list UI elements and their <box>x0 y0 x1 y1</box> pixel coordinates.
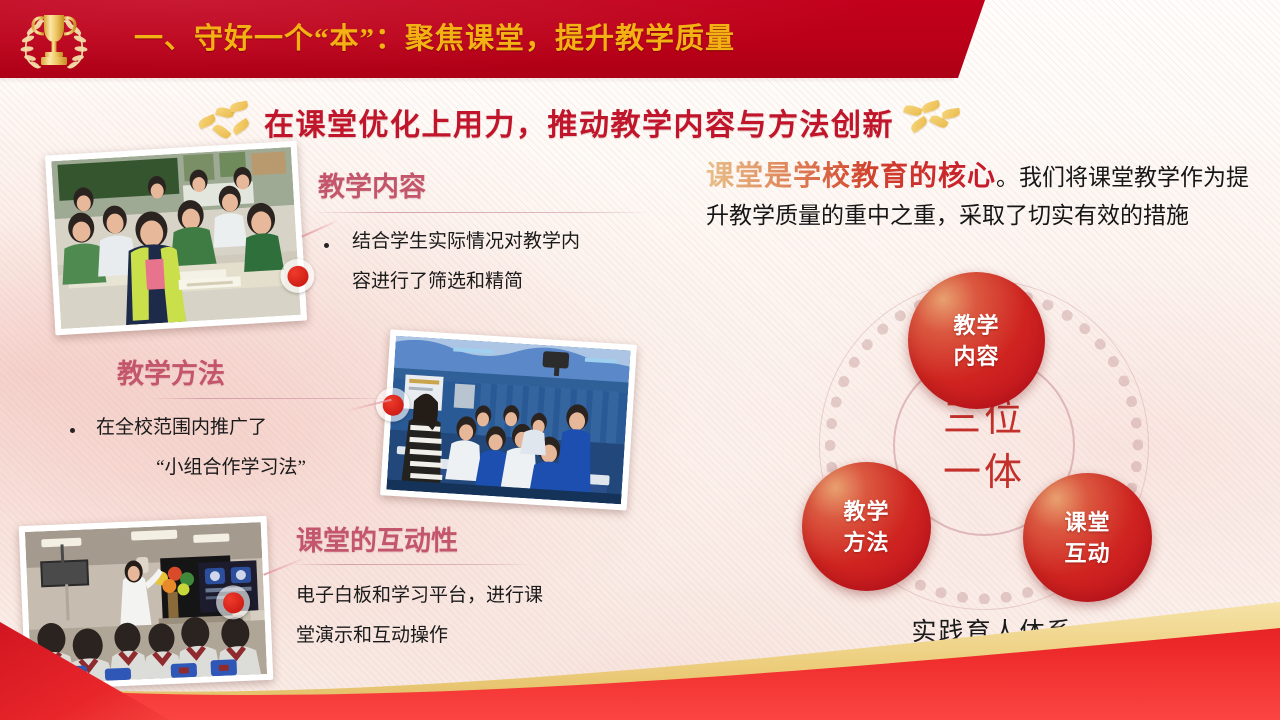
node-label-line: 内容 <box>953 341 999 372</box>
section-body-teaching-content: 结合学生实际情况对教学内 容进行了筛选和精简 <box>352 222 672 302</box>
page-title: 一、守好一个“本”：聚焦课堂，提升教学质量 <box>134 18 735 60</box>
right-paragraph-highlight: 课堂是学校教育的核心 <box>706 161 996 192</box>
node-label-line: 教学 <box>953 310 999 341</box>
photo-classroom-group-work <box>380 329 637 510</box>
body-line: 容进行了筛选和精简 <box>352 262 672 302</box>
diagram-node-class-interaction[interactable]: 课堂 互动 <box>1023 473 1152 602</box>
section-rule-2 <box>150 398 390 399</box>
photo-classroom-primary-students <box>45 141 307 336</box>
section-body-teaching-method: 在全校范围内推广了 “小组合作学习法” <box>96 408 366 488</box>
body-line: 结合学生实际情况对教学内 <box>352 222 672 262</box>
right-paragraph: 课堂是学校教育的核心。我们将课堂教学作为提升教学质量的重中之重，采取了切实有效的… <box>706 158 1262 235</box>
body-line: 电子白板和学习平台，进行课 <box>296 576 626 616</box>
gold-leaf-ornament-icon <box>196 100 258 144</box>
section-rule-1 <box>312 212 652 213</box>
body-line: 堂演示和互动操作 <box>296 616 626 656</box>
section-heading-class-interactivity: 课堂的互动性 <box>296 519 458 558</box>
gold-leaf-ornament-icon-right <box>900 100 962 144</box>
body-line: “小组合作学习法” <box>96 448 366 488</box>
subtitle-text: 在课堂优化上用力，推动教学内容与方法创新 <box>264 100 894 144</box>
diagram-node-teaching-content[interactable]: 教学 内容 <box>908 272 1045 409</box>
center-line-2: 一体 <box>943 446 1025 500</box>
node-label-line: 课堂 <box>1064 507 1110 538</box>
section-body-class-interactivity: 电子白板和学习平台，进行课 堂演示和互动操作 <box>296 576 626 656</box>
bullet-dot-2 <box>70 428 75 433</box>
node-label-line: 教学 <box>843 496 889 527</box>
three-in-one-diagram: 三位 一体 教学 内容 教学 方法 课堂 互动 <box>795 272 1190 632</box>
subtitle-row: 在课堂优化上用力，推动教学内容与方法创新 <box>196 96 1086 148</box>
bullet-dot-1 <box>324 243 329 248</box>
node-label-line: 互动 <box>1064 538 1110 569</box>
slide-root: 一、守好一个“本”：聚焦课堂，提升教学质量 在课堂优化上用力，推动教学内容与方法… <box>0 0 1280 720</box>
section-rule-3 <box>290 564 532 565</box>
node-label-line: 方法 <box>843 527 889 558</box>
section-heading-teaching-method: 教学方法 <box>117 352 225 391</box>
body-line: 在全校范围内推广了 <box>96 408 366 448</box>
trophy-laurel-icon <box>14 5 94 75</box>
section-heading-teaching-content: 教学内容 <box>318 165 426 204</box>
diagram-node-teaching-method[interactable]: 教学 方法 <box>802 462 931 591</box>
